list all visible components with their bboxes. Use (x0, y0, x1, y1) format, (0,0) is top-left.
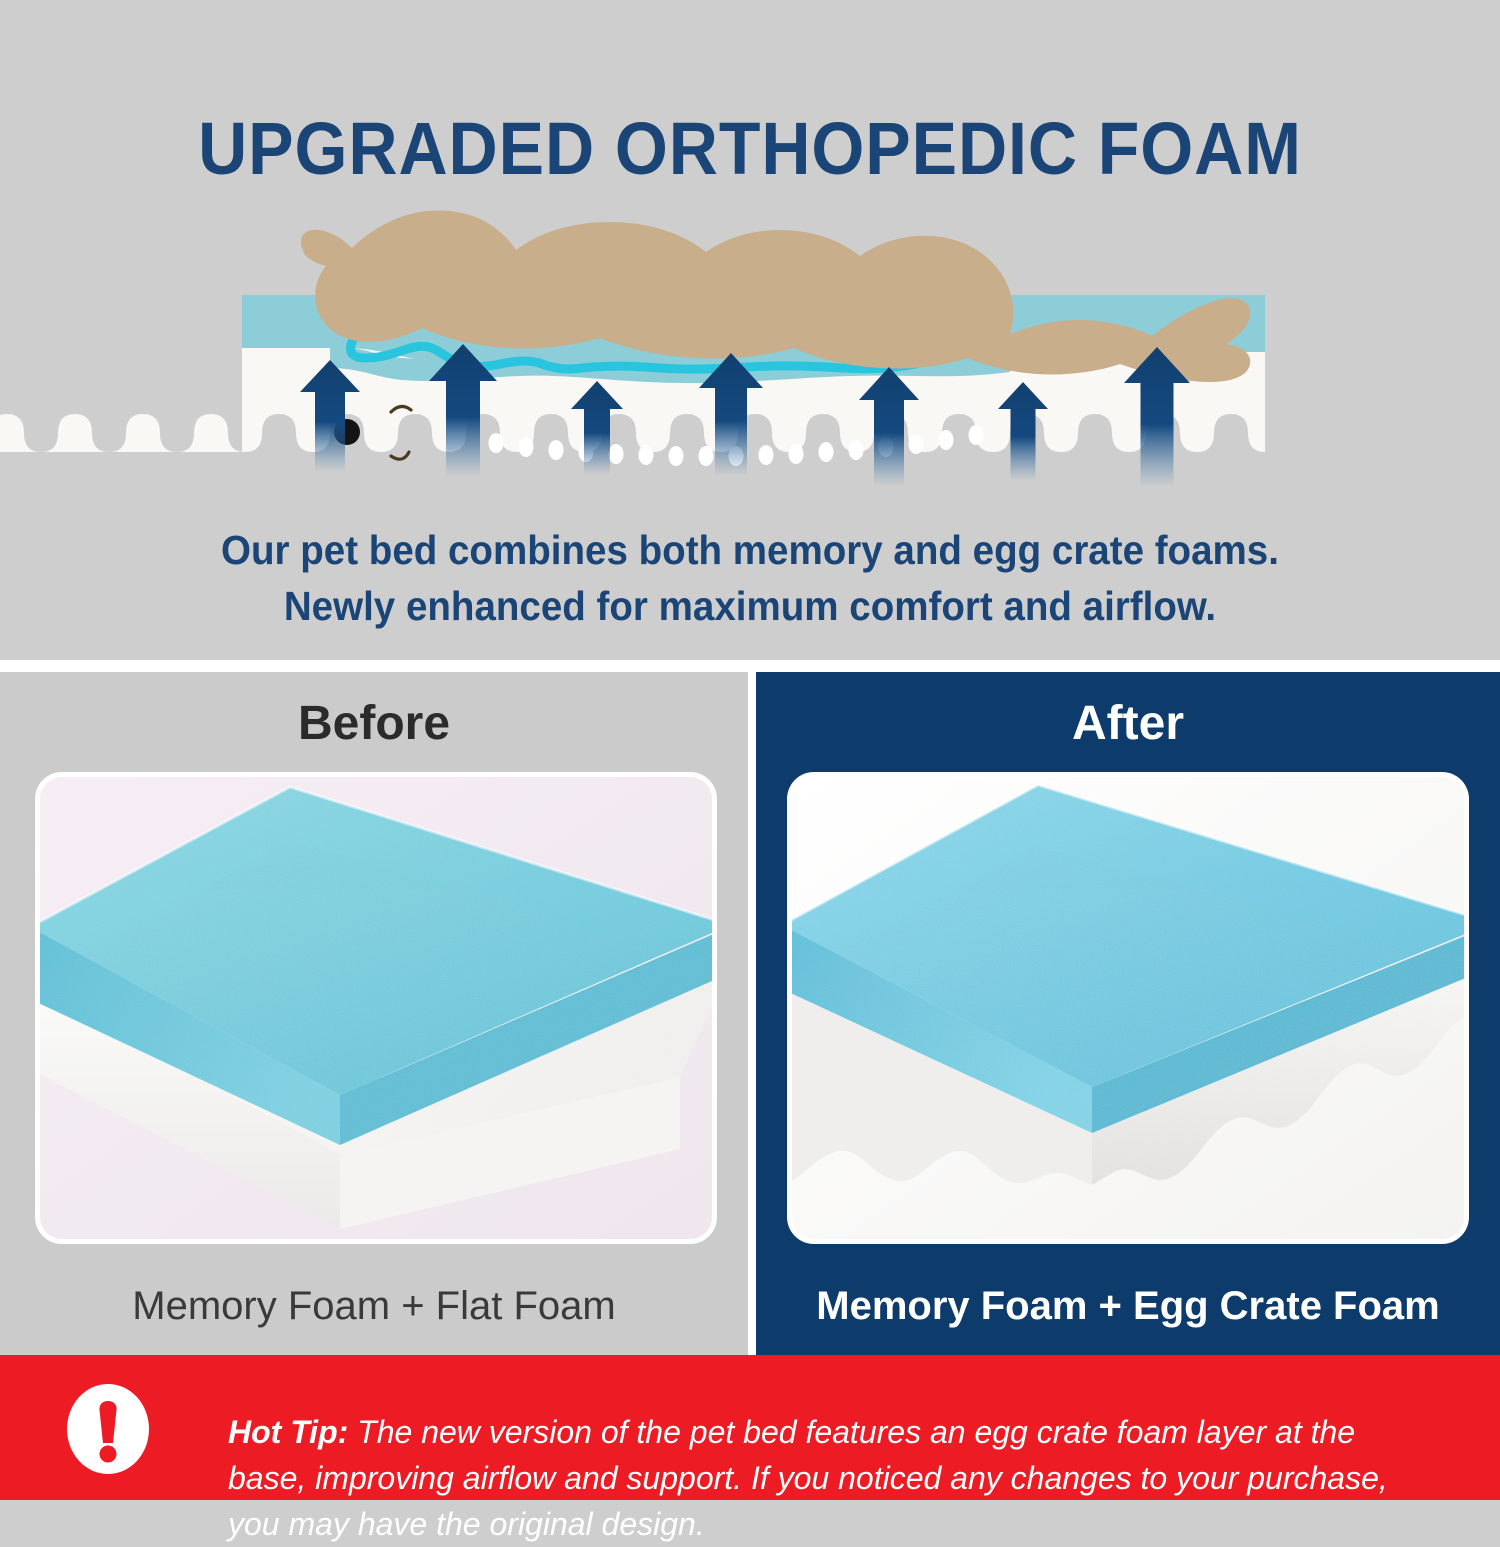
section-divider (0, 660, 1500, 672)
before-caption: Memory Foam + Flat Foam (0, 1284, 748, 1329)
hot-tip-body: The new version of the pet bed features … (228, 1414, 1388, 1542)
after-panel: After (756, 672, 1500, 1355)
hero-subtitle-line-2: Newly enhanced for maximum comfort and a… (45, 578, 1455, 634)
before-heading: Before (0, 696, 748, 751)
hot-tip-banner: Hot Tip: The new version of the pet bed … (0, 1355, 1500, 1500)
before-panel: Before (0, 672, 748, 1355)
infographic-page: UPGRADED ORTHOPEDIC FOAM (0, 0, 1500, 1500)
after-heading: After (756, 696, 1500, 751)
hero-subtitle: Our pet bed combines both memory and egg… (45, 522, 1455, 634)
hot-tip-text: Hot Tip: The new version of the pet bed … (228, 1409, 1433, 1547)
after-caption: Memory Foam + Egg Crate Foam (756, 1284, 1500, 1329)
hero-subtitle-line-1: Our pet bed combines both memory and egg… (45, 522, 1455, 578)
comparison-section: Before (0, 672, 1500, 1355)
dog-mouth-icon (391, 452, 409, 459)
exclamation-circle-icon (62, 1383, 154, 1475)
hot-tip-label: Hot Tip: (228, 1414, 348, 1450)
before-foam-photo (40, 777, 712, 1239)
after-foam-photo (792, 777, 1464, 1239)
hero-section: UPGRADED ORTHOPEDIC FOAM (0, 0, 1500, 660)
foam-cross-section-diagram (0, 160, 1500, 510)
